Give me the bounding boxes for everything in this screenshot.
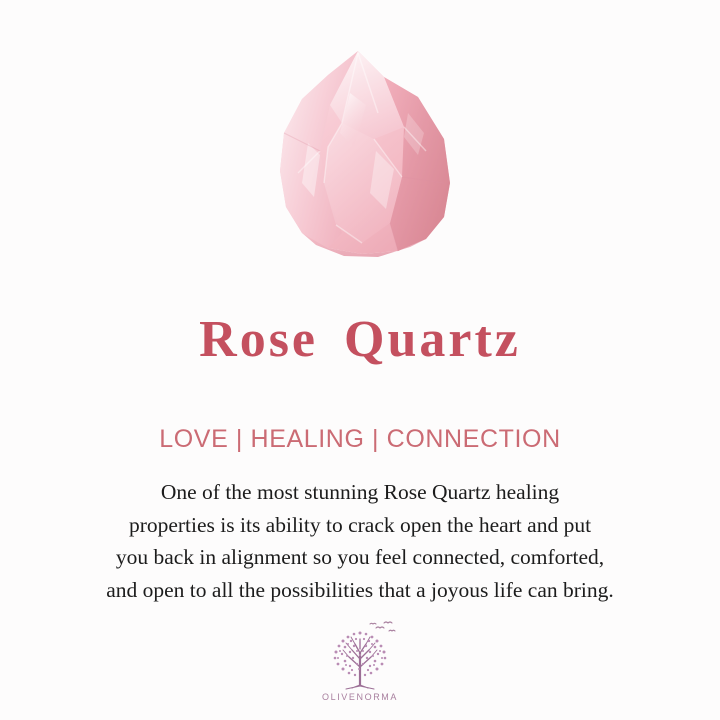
brand-name: OLIVENORMA: [322, 692, 398, 702]
crystal-image-container: [0, 0, 720, 262]
rose-quartz-product-card: Rose Quartz LOVE | HEALING | CONNECTION …: [0, 0, 720, 720]
page-title: Rose Quartz: [199, 314, 521, 366]
description-line: you back in alignment so you feel connec…: [24, 541, 696, 574]
keyword-subtitle: LOVE | HEALING | CONNECTION: [159, 425, 560, 454]
tree-birds: [370, 622, 395, 631]
rose-quartz-crystal-icon: [258, 47, 468, 262]
tree-of-life-icon: [321, 619, 399, 691]
description-paragraph: One of the most stunning Rose Quartz hea…: [24, 476, 696, 607]
description-line: properties is its ability to crack open …: [24, 509, 696, 542]
description-line: One of the most stunning Rose Quartz hea…: [24, 476, 696, 509]
brand-logo: OLIVENORMA: [0, 619, 720, 702]
description-line: and open to all the possibilities that a…: [24, 574, 696, 607]
